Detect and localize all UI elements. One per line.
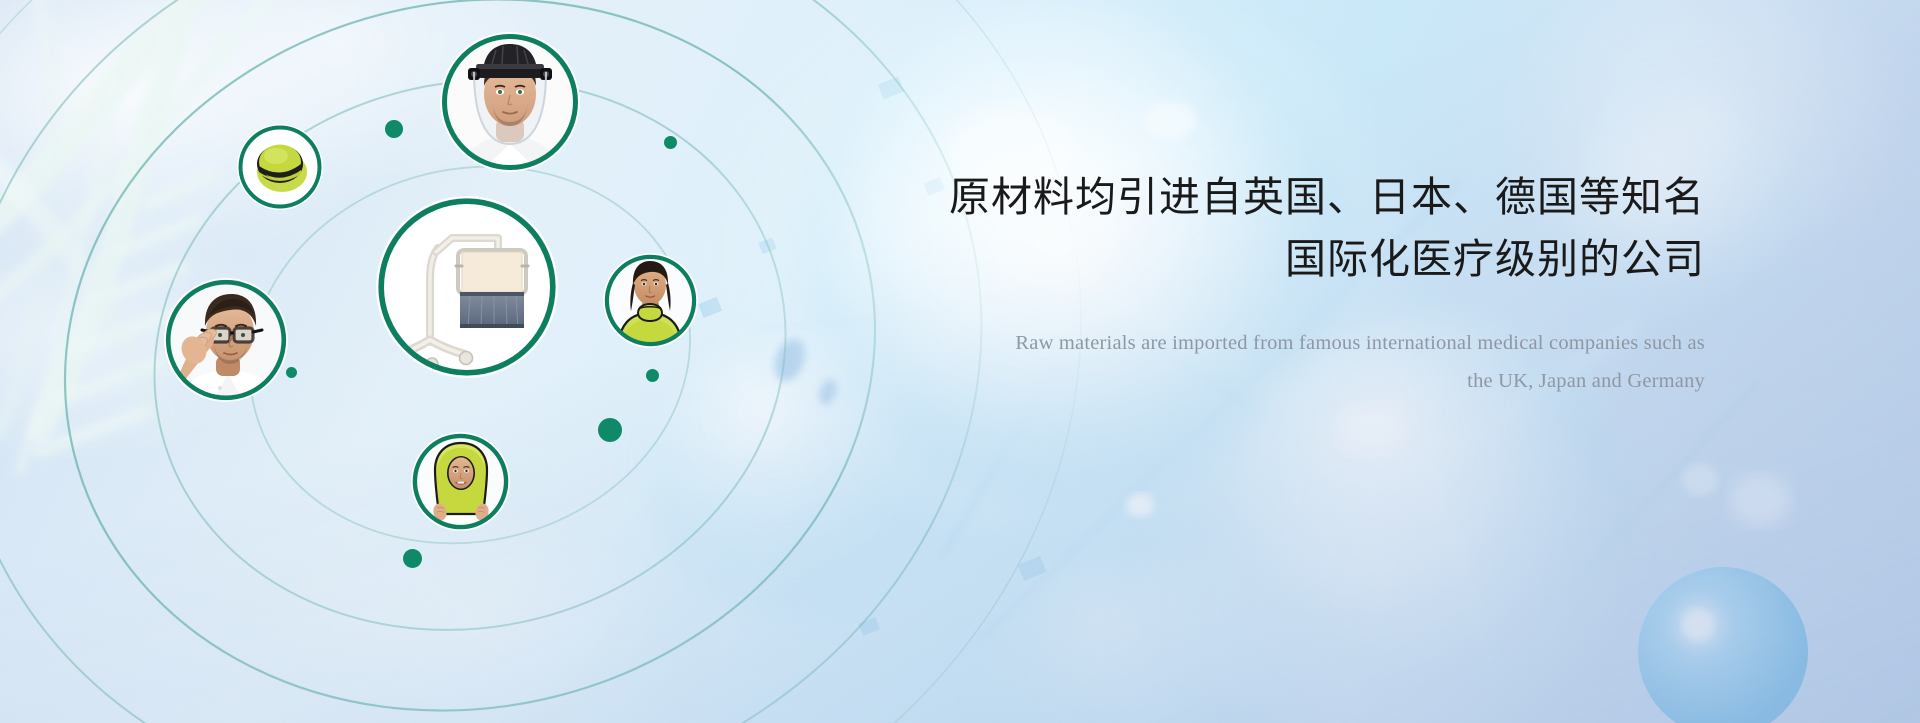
orbit-dot-top xyxy=(385,120,403,138)
dna-helix-graphic xyxy=(0,0,300,470)
headline-line-1: 原材料均引进自英国、日本、德国等知名 xyxy=(945,168,1705,226)
blue-atom xyxy=(1638,567,1808,723)
subcopy-block: Raw materials are imported from famous i… xyxy=(945,324,1705,400)
subcopy-line-1: Raw materials are imported from famous i… xyxy=(945,324,1705,362)
hero-copy-block: 原材料均引进自英国、日本、德国等知名 国际化医疗级别的公司 Raw materi… xyxy=(945,168,1705,400)
bubble-woman-lead-hood[interactable] xyxy=(411,432,510,531)
orbit-dot-mid-right xyxy=(646,369,659,382)
man-face-shield-illustration xyxy=(440,32,580,172)
headline-line-2: 国际化医疗级别的公司 xyxy=(945,230,1705,288)
orbit-dot-upper-right xyxy=(664,136,677,149)
orbit-dot-bottom xyxy=(403,549,422,568)
man-lead-glasses-illustration xyxy=(164,278,288,402)
hero-banner: 原材料均引进自英国、日本、德国等知名 国际化医疗级别的公司 Raw materi… xyxy=(0,0,1920,723)
mobile-xray-barrier-illustration xyxy=(376,196,558,378)
woman-lead-hood-illustration xyxy=(411,432,510,531)
subcopy-line-2: the UK, Japan and Germany xyxy=(945,362,1705,400)
bubble-man-lead-glasses[interactable] xyxy=(164,278,288,402)
woman-thyroid-collar-illustration xyxy=(603,253,698,348)
bubble-woman-thyroid-collar[interactable] xyxy=(603,253,698,348)
bubble-yellow-lead-cap[interactable] xyxy=(237,124,323,210)
bubble-man-face-shield[interactable] xyxy=(440,32,580,172)
yellow-lead-cap-illustration xyxy=(237,124,323,210)
orbit-dot-left xyxy=(286,367,297,378)
orbit-dot-large xyxy=(598,418,622,442)
bubble-mobile-xray-barrier[interactable] xyxy=(376,196,558,378)
